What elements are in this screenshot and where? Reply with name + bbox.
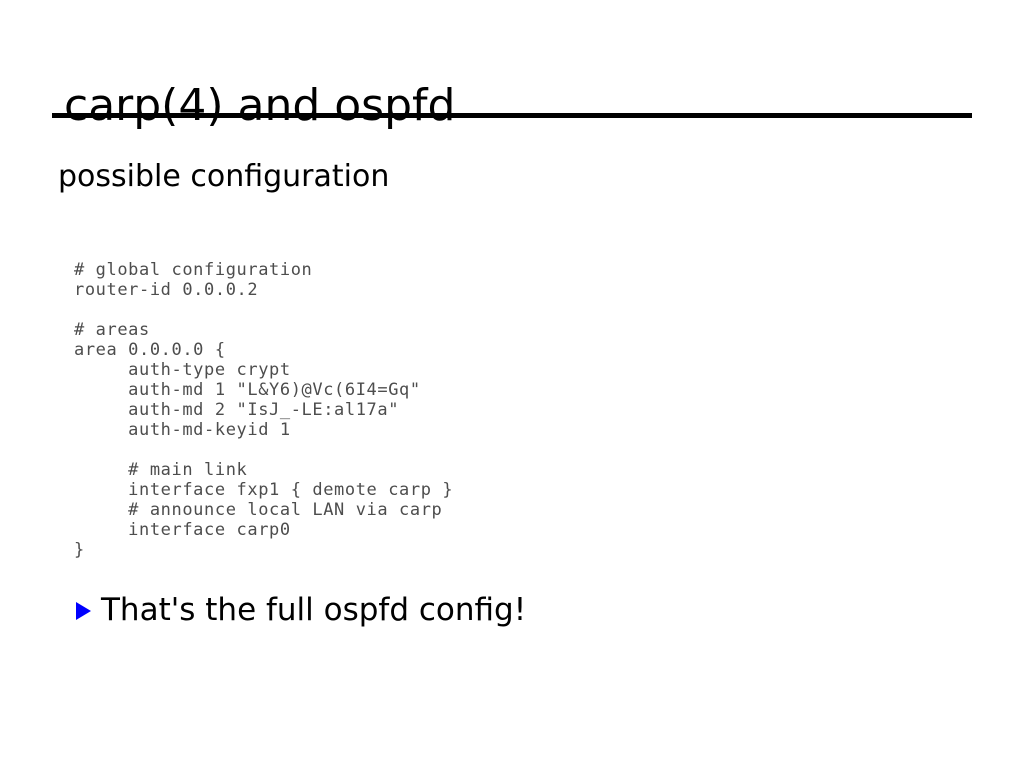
page-title: carp(4) and ospfd bbox=[64, 78, 455, 134]
ospfd-config-code-block: # global configurationrouter-id 0.0.0.2 … bbox=[74, 260, 453, 560]
summary-bullet: That's the full ospfd config! bbox=[76, 590, 526, 630]
code-line: # main link bbox=[74, 460, 453, 480]
code-line: interface carp0 bbox=[74, 520, 453, 540]
code-line: } bbox=[74, 540, 453, 560]
summary-bullet-label: That's the full ospfd config! bbox=[101, 590, 526, 630]
code-line: # areas bbox=[74, 320, 453, 340]
code-line: auth-md-keyid 1 bbox=[74, 420, 453, 440]
code-line bbox=[74, 300, 453, 320]
code-line: area 0.0.0.0 { bbox=[74, 340, 453, 360]
code-line: interface fxp1 { demote carp } bbox=[74, 480, 453, 500]
code-line: router-id 0.0.0.2 bbox=[74, 280, 453, 300]
code-line bbox=[74, 440, 453, 460]
code-line: auth-type crypt bbox=[74, 360, 453, 380]
section-subheading: possible configuration bbox=[58, 158, 389, 196]
code-line: # global configuration bbox=[74, 260, 453, 280]
code-line: auth-md 2 "IsJ_-LE:al17a" bbox=[74, 400, 453, 420]
code-line: # announce local LAN via carp bbox=[74, 500, 453, 520]
triangle-right-bullet-icon bbox=[76, 602, 91, 620]
title-divider bbox=[52, 113, 972, 118]
code-line: auth-md 1 "L&Y6)@Vc(6I4=Gq" bbox=[74, 380, 453, 400]
slide-canvas: carp(4) and ospfd possible configuration… bbox=[0, 0, 1024, 768]
